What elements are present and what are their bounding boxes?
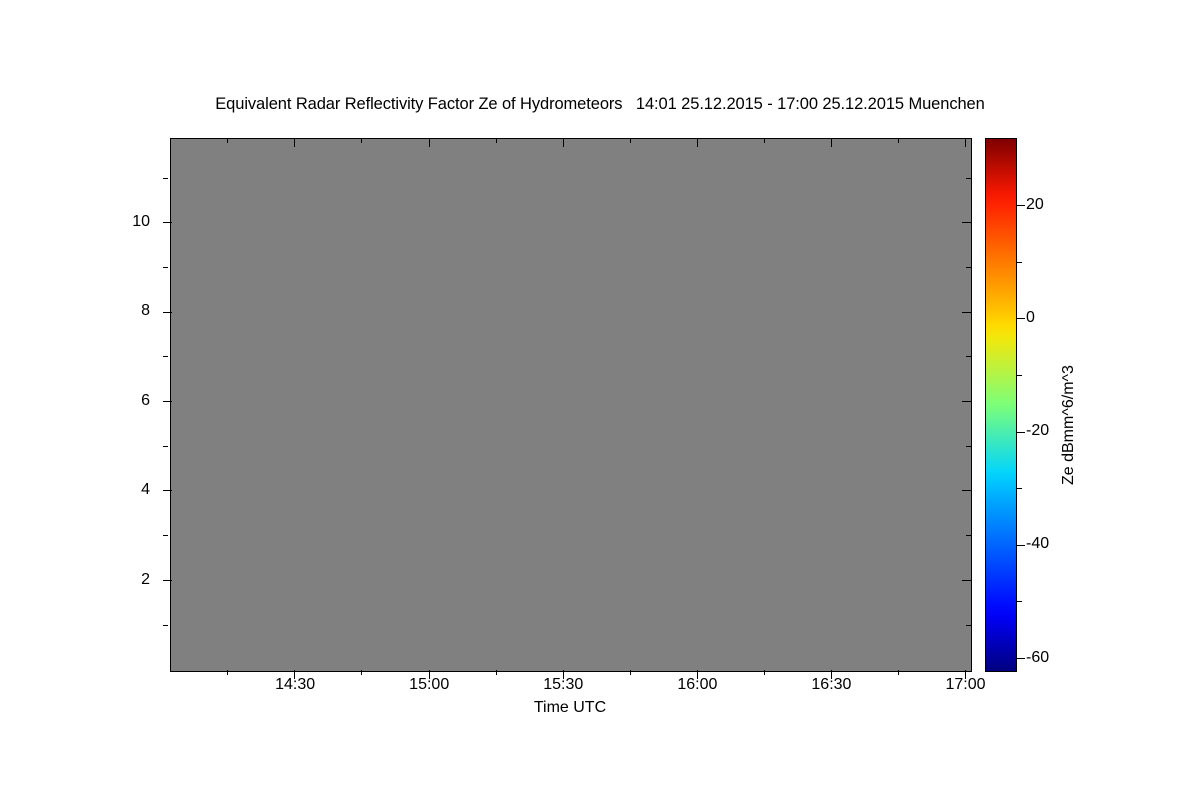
y-tick-mark [962, 222, 971, 223]
y-tick-mark [163, 401, 172, 402]
colorbar-tick-mark [1017, 432, 1025, 433]
x-tick-mark [697, 138, 698, 147]
y-tick-mark [163, 490, 172, 491]
x-tick-mark [429, 138, 430, 147]
x-tick-label: 14:30 [250, 676, 340, 694]
colorbar-tick-mark-minor [1017, 375, 1022, 376]
y-tick-mark-minor [163, 267, 168, 268]
x-tick-label: 16:30 [786, 676, 876, 694]
colorbar-tick-label: -20 [1026, 423, 1049, 439]
y-tick-label: 6 [110, 393, 150, 409]
x-tick-label: 15:00 [384, 676, 474, 694]
x-tick-label: 17:00 [921, 676, 1011, 694]
colorbar-tick-mark-minor [1017, 601, 1022, 602]
x-tick-mark-minor [496, 670, 497, 675]
y-tick-mark [962, 490, 971, 491]
y-tick-mark-minor [163, 535, 168, 536]
colorbar-label: Ze dBmm^6/m^3 [1060, 365, 1078, 485]
colorbar-tick-label: -40 [1026, 536, 1049, 552]
x-tick-mark-minor [227, 138, 228, 143]
colorbar-tick-mark [1017, 545, 1025, 546]
colorbar-gradient [986, 139, 1016, 671]
y-tick-mark [163, 222, 172, 223]
y-tick-label: 4 [110, 482, 150, 498]
reflectivity-heatmap-canvas[interactable] [171, 139, 971, 671]
y-tick-mark-minor [163, 178, 168, 179]
y-tick-mark-minor [966, 625, 971, 626]
x-tick-mark-minor [227, 670, 228, 675]
colorbar-tick-label: 20 [1026, 197, 1044, 213]
y-tick-mark [962, 312, 971, 313]
page-title: Equivalent Radar Reflectivity Factor Ze … [0, 95, 1200, 114]
x-tick-label: 15:30 [518, 676, 608, 694]
colorbar-tick-mark [1017, 658, 1025, 659]
x-tick-mark [563, 138, 564, 147]
y-tick-mark [163, 580, 172, 581]
y-tick-mark [163, 312, 172, 313]
y-tick-mark [962, 580, 971, 581]
x-tick-mark [965, 138, 966, 147]
colorbar-tick-mark-minor [1017, 488, 1022, 489]
colorbar[interactable] [985, 138, 1017, 672]
y-tick-mark [962, 401, 971, 402]
y-tick-mark-minor [163, 446, 168, 447]
y-tick-mark-minor [966, 356, 971, 357]
y-tick-mark-minor [966, 535, 971, 536]
plot-area[interactable] [170, 138, 972, 672]
y-tick-mark-minor [966, 446, 971, 447]
x-tick-mark-minor [630, 670, 631, 675]
x-tick-mark-minor [898, 138, 899, 143]
x-tick-mark-minor [361, 138, 362, 143]
y-tick-mark-minor [966, 267, 971, 268]
x-tick-mark [294, 138, 295, 147]
x-tick-mark-minor [496, 138, 497, 143]
y-tick-mark-minor [163, 625, 168, 626]
x-tick-mark [831, 138, 832, 147]
x-tick-label: 16:00 [652, 676, 742, 694]
x-tick-mark-minor [361, 670, 362, 675]
y-tick-mark-minor [966, 178, 971, 179]
x-tick-mark-minor [898, 670, 899, 675]
colorbar-tick-mark [1017, 205, 1025, 206]
y-tick-mark-minor [163, 356, 168, 357]
x-tick-mark-minor [630, 138, 631, 143]
x-tick-mark-minor [764, 138, 765, 143]
y-tick-label: 8 [110, 303, 150, 319]
colorbar-tick-mark-minor [1017, 262, 1022, 263]
colorbar-tick-label: 0 [1026, 310, 1035, 326]
radar-reflectivity-figure: Equivalent Radar Reflectivity Factor Ze … [0, 0, 1200, 800]
x-axis-label: Time UTC [170, 699, 970, 717]
colorbar-tick-label: -60 [1026, 650, 1049, 666]
colorbar-tick-mark [1017, 318, 1025, 319]
y-tick-label: 2 [110, 572, 150, 588]
y-tick-label: 10 [110, 214, 150, 230]
x-tick-mark-minor [764, 670, 765, 675]
